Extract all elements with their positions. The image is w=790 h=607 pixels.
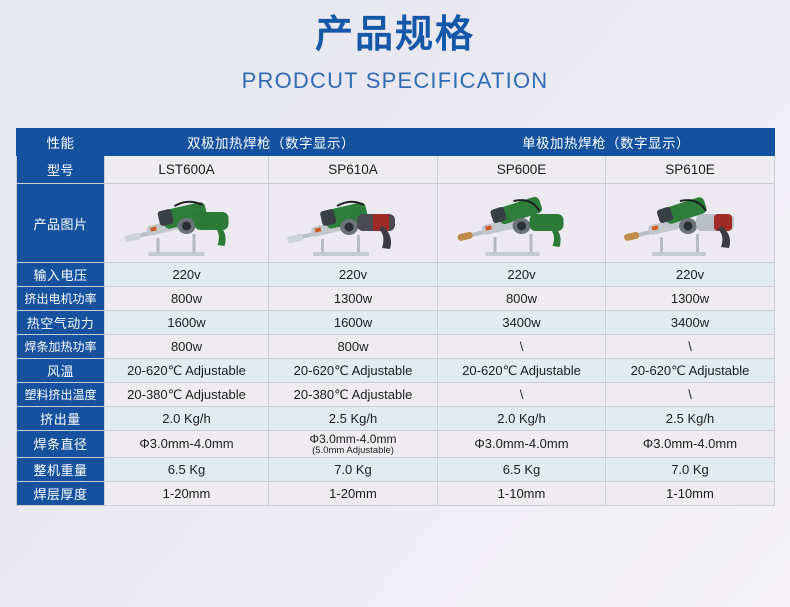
row-label-welding-rod-diameter: 焊条直径 xyxy=(17,431,105,458)
cell-note: (5.0mm Adjustable) xyxy=(271,446,435,457)
table-row: 塑料挤出温度 20-380℃ Adjustable 20-380℃ Adjust… xyxy=(17,383,775,407)
row-label-product-image: 产品图片 xyxy=(17,184,105,263)
cell-value: 800w xyxy=(438,287,606,311)
model-sp600e: SP600E xyxy=(438,156,606,184)
row-label-input-voltage: 输入电压 xyxy=(17,263,105,287)
model-lst600a: LST600A xyxy=(105,156,269,184)
cell-value: Φ3.0mm-4.0mm xyxy=(438,431,606,458)
row-label-weld-layer-thickness: 焊层厚度 xyxy=(17,481,105,505)
table-row-product-image: 产品图片 xyxy=(17,184,775,263)
row-label-air-temperature: 风温 xyxy=(17,359,105,383)
cell-value: 20-380℃ Adjustable xyxy=(269,383,438,407)
table-row: 焊条直径 Φ3.0mm-4.0mm Φ3.0mm-4.0mm (5.0mm Ad… xyxy=(17,431,775,458)
header-group-single: 单极加热焊枪（数字显示） xyxy=(438,129,775,156)
cell-value: 220v xyxy=(269,263,438,287)
product-photo-lst600a xyxy=(105,184,269,263)
welding-gun-icon xyxy=(105,184,268,262)
cell-value: 6.5 Kg xyxy=(438,457,606,481)
welding-gun-icon xyxy=(269,184,437,262)
row-label-hot-air-power: 热空气动力 xyxy=(17,311,105,335)
row-label-plastic-extrusion-temperature: 塑料挤出温度 xyxy=(17,383,105,407)
page-heading: 产品规格 PRODCUT SPECIFICATION xyxy=(0,0,790,94)
cell-value: \ xyxy=(438,335,606,359)
cell-value: 220v xyxy=(606,263,775,287)
cell-value: 1-10mm xyxy=(438,481,606,505)
cell-value: 1300w xyxy=(606,287,775,311)
cell-value: 2.5 Kg/h xyxy=(606,407,775,431)
cell-value: 20-620℃ Adjustable xyxy=(269,359,438,383)
cell-value: 2.0 Kg/h xyxy=(438,407,606,431)
row-label-machine-weight: 整机重量 xyxy=(17,457,105,481)
model-sp610e: SP610E xyxy=(606,156,775,184)
cell-value-with-note: Φ3.0mm-4.0mm (5.0mm Adjustable) xyxy=(269,431,438,458)
row-label-extrusion-output: 挤出量 xyxy=(17,407,105,431)
cell-value: 20-620℃ Adjustable xyxy=(105,359,269,383)
product-photo-sp610e xyxy=(606,184,775,263)
page-title: 产品规格 xyxy=(0,12,790,60)
product-spec-page: 产品规格 PRODCUT SPECIFICATION 性能 双极加热焊枪（数字显… xyxy=(0,0,790,607)
row-label-model: 型号 xyxy=(17,156,105,184)
cell-value: 1600w xyxy=(105,311,269,335)
cell-value: 220v xyxy=(105,263,269,287)
cell-value: 220v xyxy=(438,263,606,287)
row-label-welding-rod-heating-power: 焊条加热功率 xyxy=(17,335,105,359)
spec-table-container: 性能 双极加热焊枪（数字显示） 单极加热焊枪（数字显示） 型号 LST600A … xyxy=(16,128,774,506)
cell-value: Φ3.0mm-4.0mm xyxy=(606,431,775,458)
cell-value: 1-20mm xyxy=(269,481,438,505)
cell-value: 7.0 Kg xyxy=(269,457,438,481)
cell-value: \ xyxy=(606,335,775,359)
cell-value: 20-620℃ Adjustable xyxy=(438,359,606,383)
cell-value: 6.5 Kg xyxy=(105,457,269,481)
table-row: 挤出量 2.0 Kg/h 2.5 Kg/h 2.0 Kg/h 2.5 Kg/h xyxy=(17,407,775,431)
table-row: 整机重量 6.5 Kg 7.0 Kg 6.5 Kg 7.0 Kg xyxy=(17,457,775,481)
cell-value: 20-380℃ Adjustable xyxy=(105,383,269,407)
cell-value: 800w xyxy=(269,335,438,359)
specification-table: 性能 双极加热焊枪（数字显示） 单极加热焊枪（数字显示） 型号 LST600A … xyxy=(16,128,775,506)
cell-value: 3400w xyxy=(438,311,606,335)
table-row: 焊条加热功率 800w 800w \ \ xyxy=(17,335,775,359)
cell-value: 2.5 Kg/h xyxy=(269,407,438,431)
cell-value: 20-620℃ Adjustable xyxy=(606,359,775,383)
cell-value: 1-10mm xyxy=(606,481,775,505)
welding-gun-icon xyxy=(438,184,605,262)
cell-value: 800w xyxy=(105,287,269,311)
welding-gun-icon xyxy=(606,184,774,262)
cell-value: \ xyxy=(438,383,606,407)
table-row: 焊层厚度 1-20mm 1-20mm 1-10mm 1-10mm xyxy=(17,481,775,505)
cell-value: \ xyxy=(606,383,775,407)
cell-value: Φ3.0mm-4.0mm xyxy=(105,431,269,458)
model-sp610a: SP610A xyxy=(269,156,438,184)
table-row: 热空气动力 1600w 1600w 3400w 3400w xyxy=(17,311,775,335)
table-header-row: 性能 双极加热焊枪（数字显示） 单极加热焊枪（数字显示） xyxy=(17,129,775,156)
header-group-dual: 双极加热焊枪（数字显示） xyxy=(105,129,438,156)
row-label-extrusion-motor-power: 挤出电机功率 xyxy=(17,287,105,311)
cell-value: 2.0 Kg/h xyxy=(105,407,269,431)
table-row-model: 型号 LST600A SP610A SP600E SP610E xyxy=(17,156,775,184)
product-photo-sp600e xyxy=(438,184,606,263)
table-row: 挤出电机功率 800w 1300w 800w 1300w xyxy=(17,287,775,311)
cell-value: 800w xyxy=(105,335,269,359)
product-photo-sp610a xyxy=(269,184,438,263)
cell-value: 1-20mm xyxy=(105,481,269,505)
table-row: 风温 20-620℃ Adjustable 20-620℃ Adjustable… xyxy=(17,359,775,383)
cell-value: 1600w xyxy=(269,311,438,335)
header-performance: 性能 xyxy=(17,129,105,156)
page-subtitle: PRODCUT SPECIFICATION xyxy=(0,68,790,94)
table-row: 输入电压 220v 220v 220v 220v xyxy=(17,263,775,287)
cell-value: Φ3.0mm-4.0mm xyxy=(310,432,397,446)
cell-value: 7.0 Kg xyxy=(606,457,775,481)
cell-value: 3400w xyxy=(606,311,775,335)
cell-value: 1300w xyxy=(269,287,438,311)
